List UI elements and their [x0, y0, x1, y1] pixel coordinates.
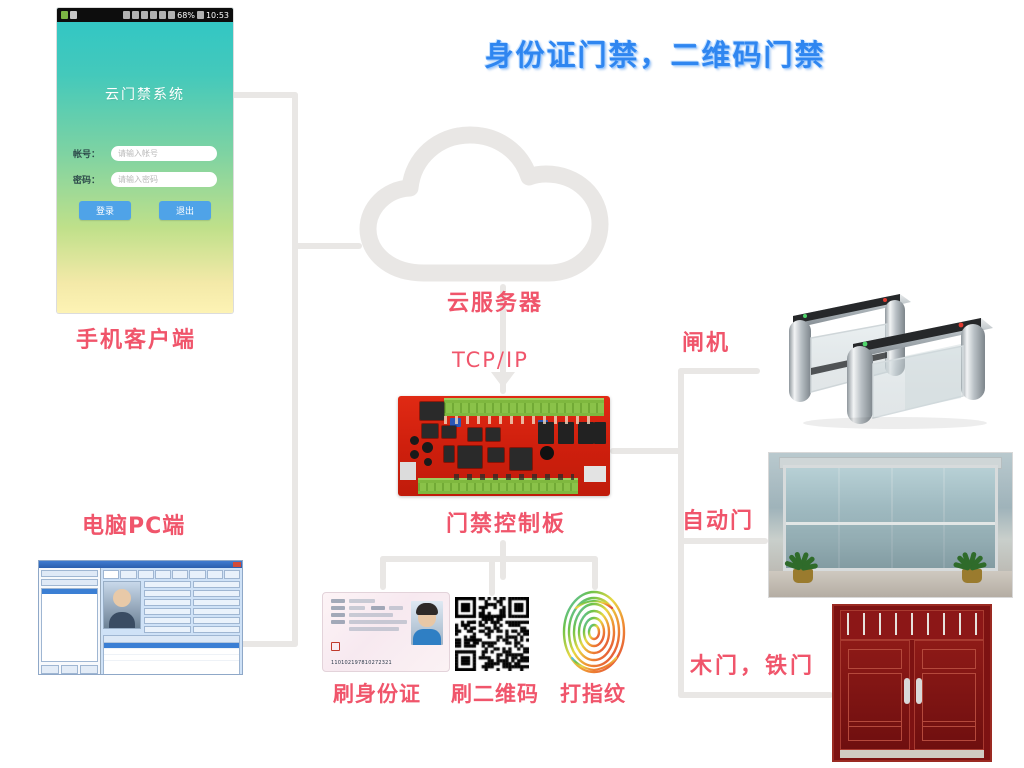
door-threshold — [840, 750, 984, 758]
pc-field[interactable] — [193, 626, 240, 633]
terminal-block-top — [444, 398, 604, 416]
status-left-icons — [61, 11, 77, 19]
silent-icon — [141, 11, 148, 19]
pc-tab-6[interactable] — [189, 570, 205, 579]
pc-field[interactable] — [144, 626, 191, 633]
exit-button[interactable]: 退出 — [159, 201, 211, 220]
buzzer — [540, 446, 554, 460]
battery-icon — [197, 11, 204, 19]
pc-field[interactable] — [144, 617, 191, 624]
component-row — [454, 474, 574, 480]
access-controller-board — [398, 396, 610, 496]
password-label: 密码： — [73, 173, 111, 186]
password-row: 密码： 请输入密码 — [73, 172, 217, 187]
bluetooth-icon — [123, 11, 130, 19]
automatic-door-image — [768, 452, 1013, 598]
ic-chip — [488, 448, 504, 462]
id-photo — [411, 601, 443, 645]
pc-person-photo — [103, 581, 141, 629]
door-handle-left — [904, 678, 910, 704]
page-title: 身份证门禁，二维码门禁 — [440, 32, 870, 74]
relay — [558, 422, 574, 444]
connector-to-turnstile — [678, 368, 760, 374]
glass-panel — [891, 468, 945, 568]
sim-icon — [132, 11, 139, 19]
pc-tab-4[interactable] — [155, 570, 171, 579]
mobile-client-caption: 手机客户端 — [76, 322, 196, 354]
message-icon — [70, 11, 77, 19]
ic-chip — [468, 428, 482, 441]
pc-body — [39, 568, 242, 675]
glass-panel — [838, 468, 892, 568]
app-title: 云门禁系统 — [57, 84, 233, 104]
pc-field[interactable] — [193, 581, 240, 588]
pc-table-header — [104, 636, 239, 643]
alarm-icon — [150, 11, 157, 19]
pc-user-list[interactable] — [41, 588, 98, 662]
mobile-client-mockup: 68% 10:53 云门禁系统 帐号： 请输入帐号 密码： 请输入密码 登录 — [57, 8, 233, 313]
connector-to-fingerprint — [592, 556, 598, 590]
qr-canvas — [455, 597, 529, 671]
transformer — [420, 402, 444, 420]
ethernet-port — [584, 466, 606, 482]
connector-board-to-right-bus — [610, 448, 684, 454]
connector-bus-to-cloud — [292, 243, 362, 249]
pc-sidebar — [39, 568, 101, 675]
relay — [578, 422, 594, 444]
id-card-caption: 刷身份证 — [333, 678, 421, 708]
ic-chip — [422, 424, 438, 438]
qr-code-caption: 刷二维码 — [451, 678, 539, 708]
capacitor — [424, 458, 432, 466]
login-button-row: 登录 退出 — [73, 201, 217, 220]
account-row: 帐号： 请输入帐号 — [73, 146, 217, 161]
pc-search-field[interactable] — [41, 570, 98, 577]
pc-tab-8[interactable] — [224, 570, 240, 579]
close-icon[interactable] — [233, 562, 241, 567]
pc-title-bar — [39, 561, 242, 568]
pc-field[interactable] — [193, 608, 240, 615]
iron-door-caption: 木门，铁门 — [690, 648, 815, 680]
capacitor — [410, 450, 419, 459]
account-label: 帐号： — [73, 147, 111, 160]
status-right-icons: 68% 10:53 — [123, 11, 229, 20]
pc-add-button[interactable] — [41, 665, 59, 674]
terminal-block-bottom — [418, 478, 578, 494]
pc-tab-bar — [103, 570, 240, 579]
capacitor — [422, 442, 433, 453]
cloud-server-caption: 云服务器 — [447, 285, 543, 317]
pc-field[interactable] — [144, 581, 191, 588]
pc-tab-5[interactable] — [172, 570, 188, 579]
app-icon — [61, 11, 68, 19]
potted-plant — [785, 537, 821, 583]
cloud-server-icon — [358, 125, 628, 285]
login-button[interactable]: 登录 — [79, 201, 131, 220]
pc-tab-2[interactable] — [120, 570, 136, 579]
qr-code-image — [455, 597, 529, 671]
turnstile-caption: 闸机 — [682, 325, 730, 357]
pc-user-list-selected-row[interactable] — [42, 589, 97, 594]
capacitor — [410, 436, 419, 445]
id-number: 110102197810272321 — [331, 660, 392, 666]
wifi-icon — [159, 11, 166, 19]
arrow-down-icon — [491, 372, 515, 388]
id-card-image: 110102197810272321 — [322, 592, 450, 672]
account-placeholder: 请输入帐号 — [118, 148, 158, 159]
fingerprint-image — [560, 588, 628, 676]
pc-tab-1[interactable] — [103, 570, 119, 579]
transom-grille — [840, 610, 984, 640]
pc-tab-3[interactable] — [138, 570, 154, 579]
phone-status-bar: 68% 10:53 — [57, 8, 233, 22]
relay — [594, 422, 606, 444]
pc-field[interactable] — [193, 599, 240, 606]
door-handle-right — [916, 678, 922, 704]
ic-chip — [442, 426, 456, 438]
connector-to-qr — [489, 556, 495, 596]
pc-sidebar-buttons — [41, 665, 98, 674]
diagram-canvas: 身份证门禁，二维码门禁 68% — [0, 0, 1024, 768]
pc-edit-button[interactable] — [61, 665, 79, 674]
pc-record-table[interactable] — [103, 635, 240, 675]
automatic-door-caption: 自动门 — [682, 503, 754, 535]
signal-icon — [168, 11, 175, 19]
connector-phone-to-bus — [228, 92, 298, 98]
pc-field[interactable] — [144, 599, 191, 606]
cpu-chip — [510, 448, 532, 470]
pc-filter-field[interactable] — [41, 579, 98, 586]
door-leaf-right — [914, 640, 984, 750]
password-input[interactable]: 请输入密码 — [111, 172, 217, 187]
pc-detail-panel — [101, 568, 242, 675]
table-row[interactable] — [104, 655, 239, 661]
turnstile-image — [765, 280, 1015, 430]
fingerprint-caption: 打指纹 — [560, 678, 626, 708]
relay — [538, 422, 554, 444]
connector-to-id-card — [380, 556, 386, 590]
door-leaf-left — [840, 640, 910, 750]
status-clock: 10:53 — [206, 11, 229, 20]
tcpip-label: TCP/IP — [452, 348, 529, 372]
national-emblem-icon — [331, 642, 340, 651]
pc-field[interactable] — [144, 590, 191, 597]
pin-header — [400, 462, 416, 480]
pc-software-mockup — [38, 560, 243, 675]
ic-chip — [444, 446, 454, 462]
resistor-row — [444, 416, 594, 424]
pc-field[interactable] — [144, 608, 191, 615]
controller-board-caption: 门禁控制板 — [446, 506, 566, 538]
iron-door-image — [832, 604, 992, 762]
connector-left-bus — [292, 92, 298, 647]
connector-to-auto-door — [678, 538, 768, 544]
pc-field-grid — [144, 581, 240, 633]
potted-plant — [954, 537, 990, 583]
pc-delete-button[interactable] — [80, 665, 98, 674]
account-input[interactable]: 请输入帐号 — [111, 146, 217, 161]
door-push-bar — [786, 522, 995, 525]
connector-pc-to-bus — [240, 641, 298, 647]
pc-tab-7[interactable] — [207, 570, 223, 579]
password-placeholder: 请输入密码 — [118, 174, 158, 185]
pc-field[interactable] — [193, 617, 240, 624]
connector-to-iron-door — [678, 692, 833, 698]
pc-client-caption: 电脑PC端 — [82, 508, 185, 540]
battery-percent: 68% — [177, 11, 195, 20]
mcu-chip — [458, 446, 482, 468]
ic-chip — [486, 428, 500, 441]
login-form: 帐号： 请输入帐号 密码： 请输入密码 登录 退出 — [57, 146, 233, 220]
pc-field[interactable] — [193, 590, 240, 597]
